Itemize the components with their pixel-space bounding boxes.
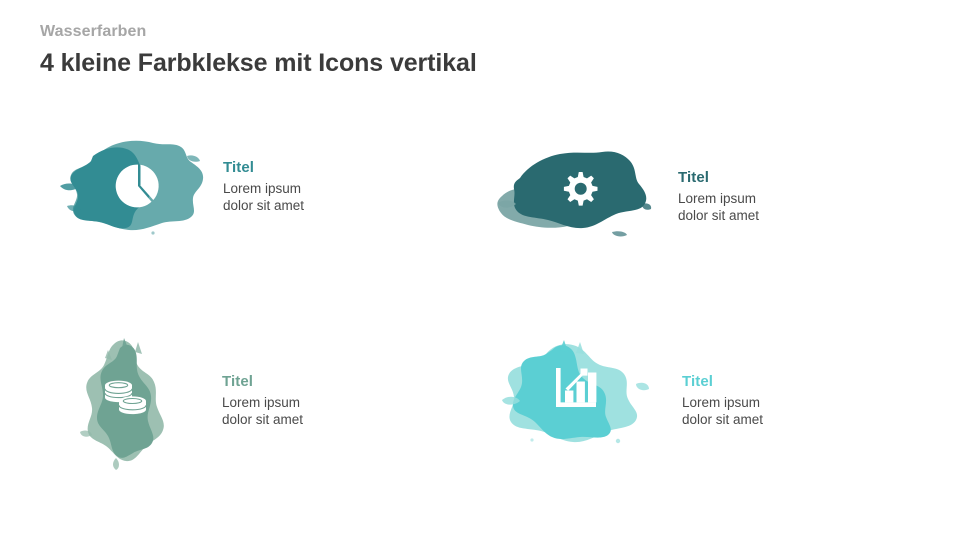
item-body-2: Lorem ipsum dolor sit amet bbox=[678, 190, 878, 224]
item-title-3: Titel bbox=[222, 372, 422, 391]
item-title-1: Titel bbox=[223, 158, 423, 177]
item-body-3: Lorem ipsum dolor sit amet bbox=[222, 394, 422, 428]
watercolor-blob-3 bbox=[72, 336, 192, 464]
text-block-1: Titel Lorem ipsum dolor sit amet bbox=[223, 158, 423, 214]
watercolor-blob-1 bbox=[55, 138, 205, 238]
page-title: 4 kleine Farbklekse mit Icons vertikal bbox=[40, 48, 920, 79]
blob-shape-1 bbox=[55, 138, 205, 238]
info-item-4[interactable]: Titel Lorem ipsum dolor sit amet bbox=[500, 340, 900, 470]
slide-header: Wasserfarben 4 kleine Farbklekse mit Ico… bbox=[40, 22, 920, 79]
info-item-3[interactable]: Titel Lorem ipsum dolor sit amet bbox=[72, 336, 452, 466]
watercolor-blob-2 bbox=[492, 148, 652, 240]
blob-shape-3 bbox=[72, 336, 192, 464]
text-block-2: Titel Lorem ipsum dolor sit amet bbox=[678, 168, 878, 224]
info-item-1[interactable]: Titel Lorem ipsum dolor sit amet bbox=[55, 138, 435, 248]
blob-shape-4 bbox=[500, 340, 650, 452]
item-title-4: Titel bbox=[682, 372, 882, 391]
blob-shape-2 bbox=[492, 148, 652, 240]
text-block-3: Titel Lorem ipsum dolor sit amet bbox=[222, 372, 422, 428]
text-block-4: Titel Lorem ipsum dolor sit amet bbox=[682, 372, 882, 428]
item-body-1: Lorem ipsum dolor sit amet bbox=[223, 180, 423, 214]
slide-canvas: Wasserfarben 4 kleine Farbklekse mit Ico… bbox=[0, 0, 960, 540]
slide-eyebrow: Wasserfarben bbox=[40, 22, 920, 42]
watercolor-blob-4 bbox=[500, 340, 650, 452]
item-body-4: Lorem ipsum dolor sit amet bbox=[682, 394, 882, 428]
info-item-2[interactable]: Titel Lorem ipsum dolor sit amet bbox=[492, 148, 892, 258]
item-title-2: Titel bbox=[678, 168, 878, 187]
